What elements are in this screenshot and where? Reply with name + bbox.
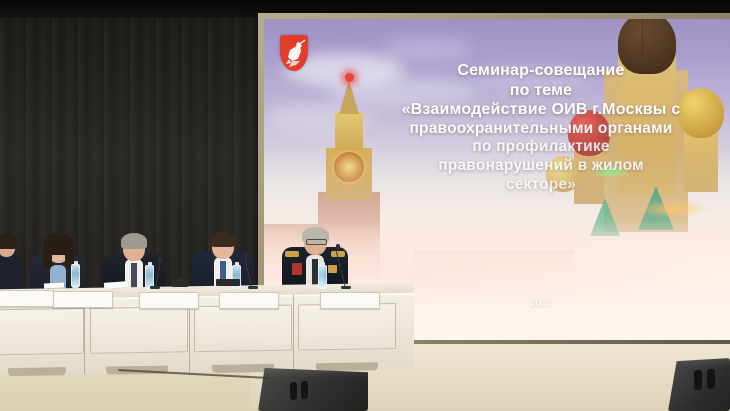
- table-foot: [316, 362, 378, 371]
- table-panel: [194, 305, 292, 353]
- slide-line-3: «Взаимодействие ОИВ г.Москвы с: [360, 100, 722, 120]
- slide-year: 2021: [360, 297, 722, 309]
- uniform-insignia: [292, 263, 302, 275]
- slide-line-4: правоохранительными органами: [360, 120, 722, 139]
- epaulette-left: [285, 251, 299, 257]
- eyeglasses-icon: [306, 239, 327, 245]
- microphone-head: [244, 252, 248, 258]
- torso: [0, 253, 22, 293]
- microphone-head: [158, 257, 162, 263]
- desk-device: [172, 277, 188, 287]
- conference-photo: Семинар-совещание по теме «Взаимодействи…: [0, 0, 730, 411]
- table-panel: [90, 306, 188, 354]
- microphone-head: [336, 244, 340, 250]
- hair-side-left: [43, 243, 52, 269]
- desk-device: [216, 279, 240, 286]
- microphone-base: [248, 286, 258, 289]
- nameplate: [0, 290, 54, 307]
- hair: [0, 233, 17, 249]
- nameplate: [139, 292, 199, 309]
- speaker-port: [301, 381, 308, 399]
- slide-line-1: Семинар-совещание: [360, 61, 722, 81]
- floor-monitor-speaker-left: [258, 368, 368, 411]
- table-panel: [0, 308, 84, 355]
- seated-person-partial: [0, 241, 22, 293]
- nameplate: [53, 291, 113, 308]
- nameplate: [219, 292, 279, 309]
- speaker-port: [290, 382, 297, 400]
- table-foot: [8, 367, 66, 376]
- document-sheet: [44, 282, 64, 288]
- slide-line-2: по теме: [360, 81, 722, 101]
- water-bottle: [71, 264, 80, 288]
- table-panel: [298, 303, 396, 351]
- table-seam: [84, 298, 85, 374]
- slide-title-block: Семинар-совещание по теме «Взаимодействи…: [360, 61, 722, 195]
- tower-upper: [335, 112, 363, 150]
- floor-monitor-speaker-right: [668, 358, 730, 411]
- water-bottle: [318, 265, 327, 289]
- table-seam: [293, 295, 294, 371]
- orange-light-glow: [638, 200, 708, 218]
- uniform-medal: [328, 265, 337, 273]
- microphone-base: [150, 286, 160, 289]
- slide-line-6: правонарушений в жилом: [360, 157, 722, 176]
- hanging-cable: [642, 19, 643, 53]
- microphone-base: [341, 286, 351, 289]
- tower-spire: [339, 80, 359, 114]
- slide-line-7: секторе»: [360, 176, 722, 195]
- speaker-port: [707, 369, 715, 389]
- speaker-port: [694, 370, 702, 390]
- hanging-cable-tip: [640, 51, 644, 58]
- cloud: [382, 37, 472, 59]
- nameplate: [320, 292, 380, 309]
- hair: [210, 232, 236, 247]
- red-star-icon: [345, 73, 354, 82]
- slide-line-5: по профилактике: [360, 138, 722, 157]
- hair: [121, 233, 147, 249]
